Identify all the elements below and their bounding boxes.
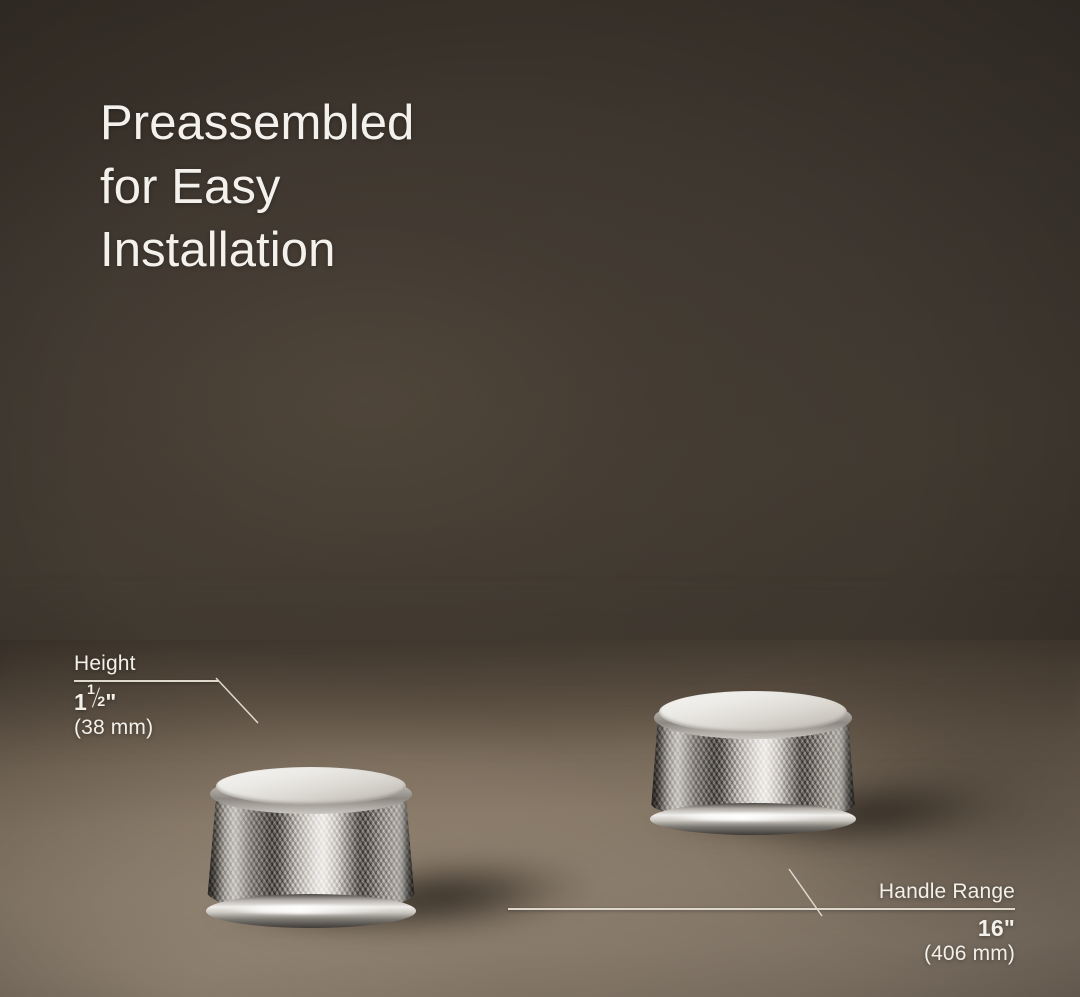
leader-segment-diagonal — [789, 869, 822, 916]
product-feature-image: Preassembled for Easy Installation Heigh… — [0, 0, 1080, 997]
callout-handle-range-leader-line — [0, 0, 1080, 997]
